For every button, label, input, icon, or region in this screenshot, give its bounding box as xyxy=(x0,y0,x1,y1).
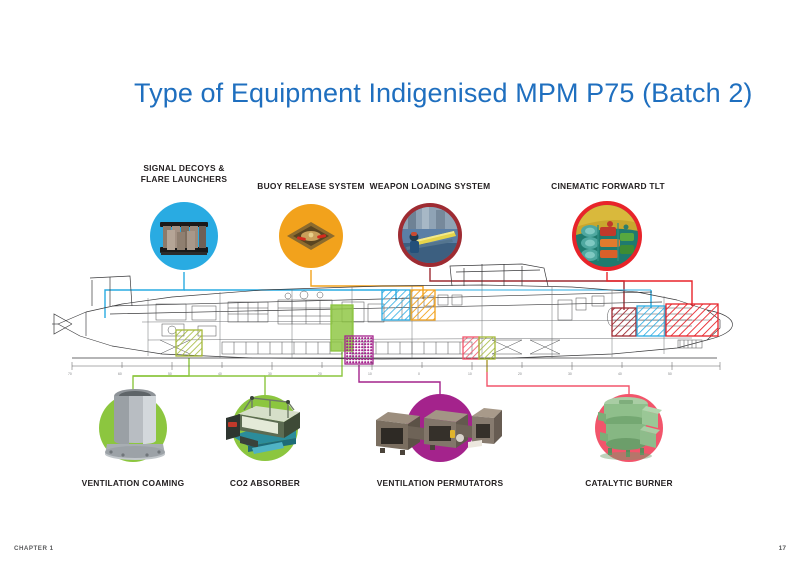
svg-text:40: 40 xyxy=(218,372,222,376)
equipment-zones xyxy=(176,290,718,364)
svg-text:50: 50 xyxy=(668,372,672,376)
bubble-weapon-loading-system[interactable] xyxy=(398,203,462,267)
svg-text:30: 30 xyxy=(568,372,572,376)
zone-signal-decoys[interactable] xyxy=(382,290,410,320)
svg-text:20: 20 xyxy=(318,372,322,376)
permutator-ducts-icon xyxy=(372,402,504,466)
co2-absorber-unit-icon xyxy=(222,392,308,464)
zone-cinematic-tlt-red[interactable] xyxy=(666,304,718,336)
svg-text:60: 60 xyxy=(118,372,122,376)
label-weapon-loading-system: WEAPON LOADING SYSTEM xyxy=(369,181,491,192)
torpedo-tubes-render-icon xyxy=(576,205,638,267)
bubble-cinematic-forward-tlt[interactable] xyxy=(572,201,642,271)
svg-text:0: 0 xyxy=(418,372,420,376)
bubble-signal-decoys-flare-launchers[interactable] xyxy=(150,202,218,270)
label-ventilation-permutators: VENTILATION PERMUTATORS xyxy=(374,478,506,489)
svg-text:40: 40 xyxy=(618,372,622,376)
svg-text:30: 30 xyxy=(268,372,272,376)
zone-ventilation-coaming[interactable] xyxy=(176,330,202,356)
label-ventilation-coaming: VENTILATION COAMING xyxy=(74,478,192,489)
zone-buoy-release[interactable] xyxy=(411,290,435,320)
zone-ventilation-permutators[interactable] xyxy=(345,336,373,364)
coaming-cylinder-icon xyxy=(95,382,175,466)
slide-page: Type of Equipment Indigenised MPM P75 (B… xyxy=(0,0,800,566)
zone-catalytic-burner-pink[interactable] xyxy=(463,337,479,359)
svg-text:50: 50 xyxy=(168,372,172,376)
bubble-buoy-release-system[interactable] xyxy=(279,204,343,268)
zone-cinematic-tlt-blue[interactable] xyxy=(637,306,665,336)
footer-page-number: 17 xyxy=(779,545,786,552)
label-buoy-release-system: BUOY RELEASE SYSTEM xyxy=(252,181,370,192)
svg-text:70: 70 xyxy=(68,372,72,376)
label-catalytic-burner: CATALYTIC BURNER xyxy=(572,478,686,489)
zone-weapon-loading[interactable] xyxy=(612,308,636,336)
torpedo-loading-photo-icon xyxy=(402,207,458,263)
catalytic-burner-unit-icon xyxy=(592,390,670,466)
label-co2-absorber: CO2 ABSORBER xyxy=(213,478,317,489)
submarine-cutaway-diagram: 7060 5040 3020 100 1020 3040 50 xyxy=(52,262,752,382)
svg-text:10: 10 xyxy=(368,372,372,376)
svg-text:10: 10 xyxy=(468,372,472,376)
buoy-release-hatch-icon xyxy=(279,204,343,268)
zone-catalytic-burner-olive[interactable] xyxy=(479,337,495,359)
label-cinematic-forward-tlt: CINEMATIC FORWARD TLT xyxy=(547,181,669,192)
footer-chapter: CHAPTER 1 xyxy=(14,545,54,552)
label-signal-decoys-flare-launchers: SIGNAL DECOYS & FLARE LAUNCHERS xyxy=(131,163,237,185)
svg-text:20: 20 xyxy=(518,372,522,376)
decoy-launcher-tubes-icon xyxy=(150,202,218,270)
